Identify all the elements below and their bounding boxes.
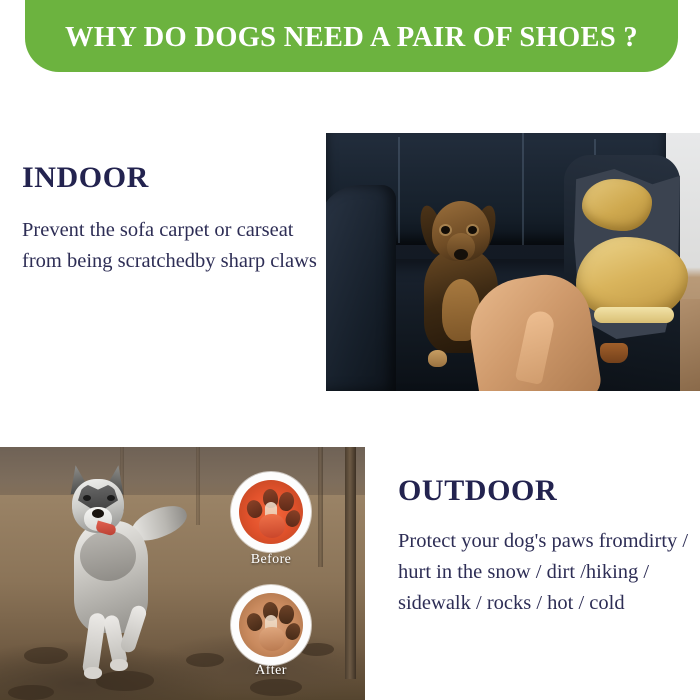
puppy-nose bbox=[454, 249, 468, 260]
indoor-photo-sofa-damage bbox=[326, 133, 700, 391]
sofa-left-armrest bbox=[326, 185, 396, 391]
paw-inset-caption-after: After bbox=[211, 663, 331, 679]
exposed-foam-edge bbox=[594, 307, 674, 323]
puppy-left-eye bbox=[441, 226, 450, 234]
exposed-foam-upper bbox=[582, 179, 652, 231]
tree-trunk bbox=[196, 447, 200, 525]
husky-foot bbox=[110, 659, 128, 671]
puppy-left-paw bbox=[428, 350, 447, 367]
paw-icon-irritated bbox=[239, 480, 303, 544]
page-title: WHY DO DOGS NEED A PAIR OF SHOES ? bbox=[65, 24, 638, 53]
indoor-heading: INDOOR bbox=[22, 163, 318, 193]
paw-inset-before bbox=[231, 472, 311, 552]
husky-nose bbox=[92, 509, 104, 518]
puppy-right-eye bbox=[468, 226, 477, 234]
paw-pad bbox=[259, 627, 285, 651]
header-banner: WHY DO DOGS NEED A PAIR OF SHOES ? bbox=[25, 0, 678, 72]
husky-illustration bbox=[56, 465, 192, 679]
tree-trunk bbox=[318, 447, 323, 567]
paw-icon-healthy bbox=[239, 593, 303, 657]
paw-inset-caption-before: Before bbox=[211, 552, 331, 568]
husky-left-eye bbox=[83, 495, 91, 501]
husky-shoulder bbox=[80, 531, 136, 581]
husky-right-eye bbox=[107, 495, 115, 501]
sofa-leg bbox=[600, 343, 628, 363]
tree-trunk bbox=[345, 447, 356, 679]
sofa-seam bbox=[522, 133, 524, 245]
outdoor-section: OUTDOOR Protect your dog's paws fromdirt… bbox=[398, 476, 690, 619]
indoor-section: INDOOR Prevent the sofa carpet or carsea… bbox=[22, 163, 318, 277]
outdoor-body-text: Protect your dog's paws fromdirty / hurt… bbox=[398, 526, 690, 619]
indoor-body-text: Prevent the sofa carpet or carseat from … bbox=[22, 215, 318, 277]
sofa-seam bbox=[398, 137, 400, 243]
paw-pad bbox=[259, 514, 285, 538]
husky-foot bbox=[84, 667, 102, 679]
outdoor-heading: OUTDOOR bbox=[398, 476, 690, 506]
paw-inset-after bbox=[231, 585, 311, 665]
infographic-page: WHY DO DOGS NEED A PAIR OF SHOES ? INDOO… bbox=[0, 0, 700, 700]
